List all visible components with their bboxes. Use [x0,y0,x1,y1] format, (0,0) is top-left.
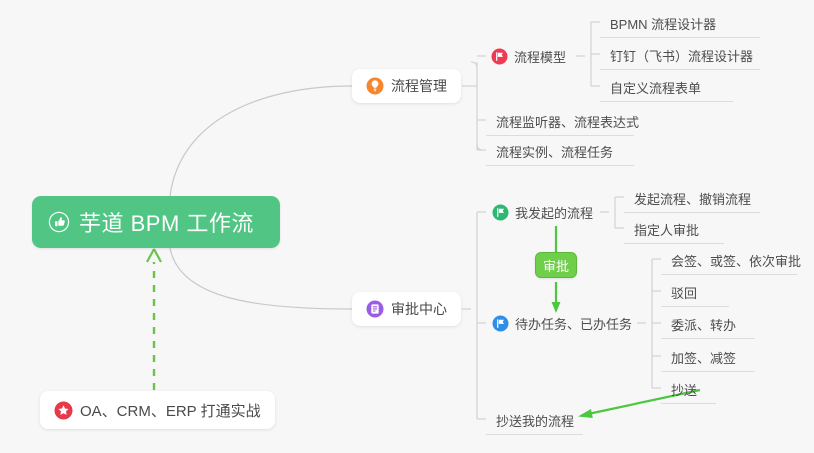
star-icon [54,401,73,420]
wire-pm-corner-bottom [477,144,483,150]
leaf-delegate-transfer[interactable]: 委派、转办 [661,309,755,339]
leaf-assignee-approval[interactable]: 指定人审批 [624,214,724,244]
node-approval-center[interactable]: 审批中心 [352,292,461,326]
wire-root-to-approval-center [170,248,352,309]
root-node[interactable]: 芋道 BPM 工作流 [32,196,280,248]
leaf-countersign[interactable]: 会签、或签、依次审批 [661,245,797,275]
node-todo-done-tasks[interactable]: 待办任务、已办任务 [490,309,642,338]
wire-pm-corner-top [471,62,477,68]
node-integration-note-label: OA、CRM、ERP 打通实战 [80,400,261,421]
mindmap-canvas: 芋道 BPM 工作流 流程管理 流程模型 BPMN 流程设计器 钉钉（飞书）流程… [0,0,814,453]
flag-red-icon [491,48,508,65]
leaf-process-instance[interactable]: 流程实例、流程任务 [486,136,634,166]
node-process-model-label: 流程模型 [514,47,566,66]
node-approval-center-label: 审批中心 [391,299,447,319]
leaf-reject[interactable]: 驳回 [661,277,729,307]
leaf-cc-to-me[interactable]: 抄送我的流程 [486,405,583,435]
node-integration-note[interactable]: OA、CRM、ERP 打通实战 [40,391,275,429]
leaf-start-cancel-process[interactable]: 发起流程、撤销流程 [624,183,760,213]
integration-dashed-arrow [147,249,161,390]
flag-green-icon [492,204,509,221]
leaf-cc[interactable]: 抄送 [661,374,716,404]
approval-badge[interactable]: 审批 [535,252,577,278]
leaf-add-remove-sign[interactable]: 加签、减签 [661,342,755,372]
wire-root-to-process-management [170,86,352,196]
leaf-process-listener[interactable]: 流程监听器、流程表达式 [486,106,634,136]
node-process-management-label: 流程管理 [391,76,447,96]
leaf-dingtalk-designer[interactable]: 钉钉（飞书）流程设计器 [600,40,760,70]
node-my-started-process[interactable]: 我发起的流程 [490,198,603,227]
node-my-started-process-label: 我发起的流程 [515,203,593,222]
document-icon [366,300,384,318]
node-todo-done-tasks-label: 待办任务、已办任务 [515,314,632,333]
leaf-bpmn-designer[interactable]: BPMN 流程设计器 [600,8,760,38]
leaf-custom-form[interactable]: 自定义流程表单 [600,72,733,102]
thumbs-up-icon [48,211,70,233]
node-process-management[interactable]: 流程管理 [352,69,461,103]
root-label: 芋道 BPM 工作流 [79,206,254,238]
lightbulb-icon [366,77,384,95]
dashed-arrow-head [147,249,161,262]
node-process-model[interactable]: 流程模型 [489,42,576,71]
flag-blue-icon [492,315,509,332]
